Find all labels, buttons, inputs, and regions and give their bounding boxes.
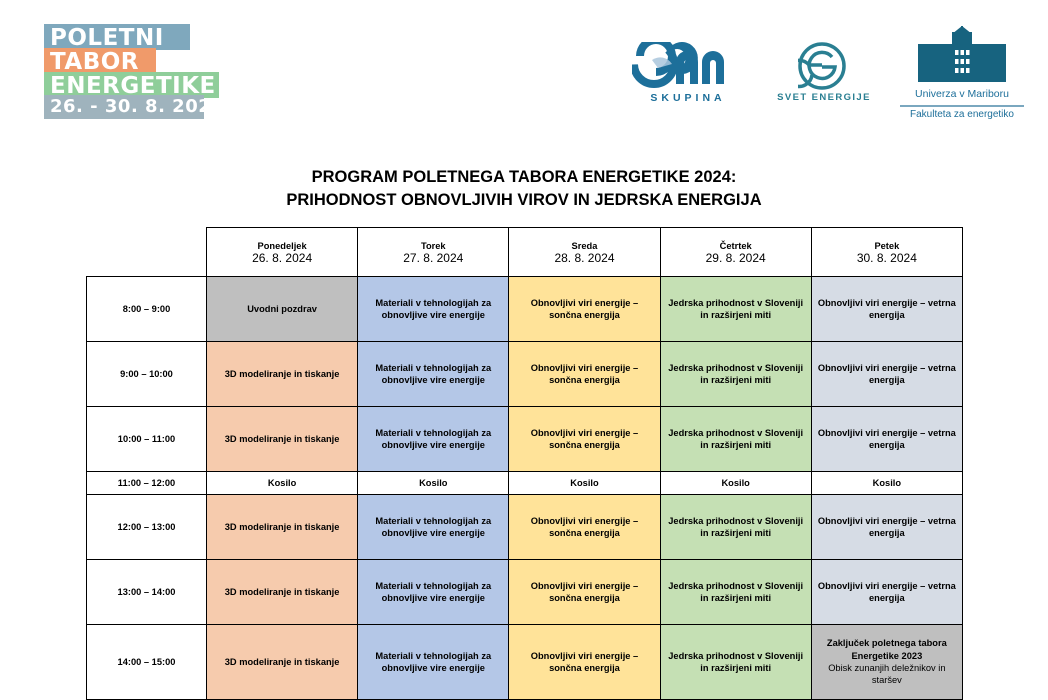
closing-subtitle: Obisk zunanjih deležnikov in staršev xyxy=(816,662,958,687)
session-tue-4: Materiali v tehnologijah za obnovljive v… xyxy=(358,495,509,560)
table-row: 12:00 – 13:00 3D modeliranje in tiskanje… xyxy=(87,495,963,560)
session-mon-4: 3D modeliranje in tiskanje xyxy=(207,495,358,560)
univerza-v-mariboru-logo: Univerza v Mariboru Fakulteta za energet… xyxy=(896,26,1028,118)
session-thu-5: Jedrska prihodnost v Sloveniji in razšir… xyxy=(660,560,811,625)
page-header: POLETNI TABOR ENERGETIKE 26. - 30. 8. 20… xyxy=(0,0,1048,140)
session-thu-6: Jedrska prihodnost v Sloveniji in razšir… xyxy=(660,625,811,700)
session-fri-2: Obnovljivi viri energije – vetrna energi… xyxy=(811,407,962,472)
time-slot-3: 11:00 – 12:00 xyxy=(87,472,207,495)
header-corner-blank xyxy=(87,228,207,277)
time-slot-4: 12:00 – 13:00 xyxy=(87,495,207,560)
day-date-tuesday: 27. 8. 2024 xyxy=(362,252,504,264)
day-header-monday: Ponedeljek 26. 8. 2024 xyxy=(207,228,358,277)
session-wed-0: Obnovljivi viri energije – sončna energi… xyxy=(509,277,660,342)
closing-title: Zaključek poletnega tabora Energetike 20… xyxy=(827,638,947,660)
session-mon-0: Uvodni pozdrav xyxy=(207,277,358,342)
logo-text-energetike: ENERGETIKE xyxy=(50,75,216,98)
page-title-line-1: PROGRAM POLETNEGA TABORA ENERGETIKE 2024… xyxy=(0,166,1048,189)
day-header-tuesday: Torek 27. 8. 2024 xyxy=(358,228,509,277)
table-row: 10:00 – 11:00 3D modeliranje in tiskanje… xyxy=(87,407,963,472)
session-wed-4: Obnovljivi viri energije – sončna energi… xyxy=(509,495,660,560)
lunch-tue: Kosilo xyxy=(358,472,509,495)
day-header-friday: Petek 30. 8. 2024 xyxy=(811,228,962,277)
gen-monogram-icon xyxy=(632,42,744,95)
table-row: 8:00 – 9:00 Uvodni pozdrav Materiali v t… xyxy=(87,277,963,342)
table-row-lunch: 11:00 – 12:00 Kosilo Kosilo Kosilo Kosil… xyxy=(87,472,963,495)
page-title: PROGRAM POLETNEGA TABORA ENERGETIKE 2024… xyxy=(0,166,1048,212)
day-header-thursday: Četrtek 29. 8. 2024 xyxy=(660,228,811,277)
time-slot-5: 13:00 – 14:00 xyxy=(87,560,207,625)
svet-energije-wordmark: SVET ENERGIJE xyxy=(768,92,880,103)
time-slot-6: 14:00 – 15:00 xyxy=(87,625,207,700)
time-slot-1: 9:00 – 10:00 xyxy=(87,342,207,407)
svet-energije-emblem-icon xyxy=(798,42,846,95)
time-slot-2: 10:00 – 11:00 xyxy=(87,407,207,472)
gen-skupina-wordmark: SKUPINA xyxy=(628,92,748,104)
poletni-tabor-energetike-logo: POLETNI TABOR ENERGETIKE 26. - 30. 8. 20… xyxy=(44,24,219,116)
session-fri-6: Zaključek poletnega tabora Energetike 20… xyxy=(811,625,962,700)
table-row: 9:00 – 10:00 3D modeliranje in tiskanje … xyxy=(87,342,963,407)
session-tue-1: Materiali v tehnologijah za obnovljive v… xyxy=(358,342,509,407)
session-thu-1: Jedrska prihodnost v Sloveniji in razšir… xyxy=(660,342,811,407)
faculty-name: Fakulteta za energetiko xyxy=(896,109,1028,120)
table-row: 14:00 – 15:00 3D modeliranje in tiskanje… xyxy=(87,625,963,700)
session-thu-4: Jedrska prihodnost v Sloveniji in razšir… xyxy=(660,495,811,560)
session-tue-2: Materiali v tehnologijah za obnovljive v… xyxy=(358,407,509,472)
session-mon-2: 3D modeliranje in tiskanje xyxy=(207,407,358,472)
day-date-friday: 30. 8. 2024 xyxy=(816,252,958,264)
day-header-wednesday: Sreda 28. 8. 2024 xyxy=(509,228,660,277)
session-tue-0: Materiali v tehnologijah za obnovljive v… xyxy=(358,277,509,342)
day-date-thursday: 29. 8. 2024 xyxy=(665,252,807,264)
session-mon-5: 3D modeliranje in tiskanje xyxy=(207,560,358,625)
schedule-table: Ponedeljek 26. 8. 2024 Torek 27. 8. 2024… xyxy=(86,227,963,700)
logo-text-tabor: TABOR xyxy=(50,51,139,74)
session-mon-1: 3D modeliranje in tiskanje xyxy=(207,342,358,407)
university-building-icon xyxy=(914,26,1010,91)
session-fri-4: Obnovljivi viri energije – vetrna energi… xyxy=(811,495,962,560)
session-fri-5: Obnovljivi viri energije – vetrna energi… xyxy=(811,560,962,625)
day-name-tuesday: Torek xyxy=(421,241,446,251)
session-wed-5: Obnovljivi viri energije – sončna energi… xyxy=(509,560,660,625)
session-thu-2: Jedrska prihodnost v Sloveniji in razšir… xyxy=(660,407,811,472)
session-tue-6: Materiali v tehnologijah za obnovljive v… xyxy=(358,625,509,700)
session-wed-1: Obnovljivi viri energije – sončna energi… xyxy=(509,342,660,407)
table-row: 13:00 – 14:00 3D modeliranje in tiskanje… xyxy=(87,560,963,625)
logo-text-dates: 26. - 30. 8. 2024 xyxy=(50,98,224,116)
lunch-thu: Kosilo xyxy=(660,472,811,495)
gen-skupina-logo: SKUPINA xyxy=(628,42,748,104)
lunch-fri: Kosilo xyxy=(811,472,962,495)
day-date-wednesday: 28. 8. 2024 xyxy=(513,252,655,264)
day-name-monday: Ponedeljek xyxy=(258,241,307,251)
logo-text-poletni: POLETNI xyxy=(50,27,164,50)
session-fri-1: Obnovljivi viri energije – vetrna energi… xyxy=(811,342,962,407)
session-wed-2: Obnovljivi viri energije – sončna energi… xyxy=(509,407,660,472)
table-header-row: Ponedeljek 26. 8. 2024 Torek 27. 8. 2024… xyxy=(87,228,963,277)
session-thu-0: Jedrska prihodnost v Sloveniji in razšir… xyxy=(660,277,811,342)
day-name-wednesday: Sreda xyxy=(572,241,598,251)
day-name-thursday: Četrtek xyxy=(720,241,752,251)
session-wed-6: Obnovljivi viri energije – sončna energi… xyxy=(509,625,660,700)
schedule-table-container: Ponedeljek 26. 8. 2024 Torek 27. 8. 2024… xyxy=(86,227,962,700)
session-mon-6: 3D modeliranje in tiskanje xyxy=(207,625,358,700)
day-date-monday: 26. 8. 2024 xyxy=(211,252,353,264)
university-name: Univerza v Mariboru xyxy=(896,88,1028,100)
lunch-mon: Kosilo xyxy=(207,472,358,495)
day-name-friday: Petek xyxy=(874,241,899,251)
session-tue-5: Materiali v tehnologijah za obnovljive v… xyxy=(358,560,509,625)
time-slot-0: 8:00 – 9:00 xyxy=(87,277,207,342)
svet-energije-logo: SVET ENERGIJE xyxy=(768,42,880,104)
university-divider xyxy=(900,105,1024,107)
lunch-wed: Kosilo xyxy=(509,472,660,495)
page-title-line-2: PRIHODNOST OBNOVLJIVIH VIROV IN JEDRSKA … xyxy=(0,189,1048,212)
session-fri-0: Obnovljivi viri energije – vetrna energi… xyxy=(811,277,962,342)
